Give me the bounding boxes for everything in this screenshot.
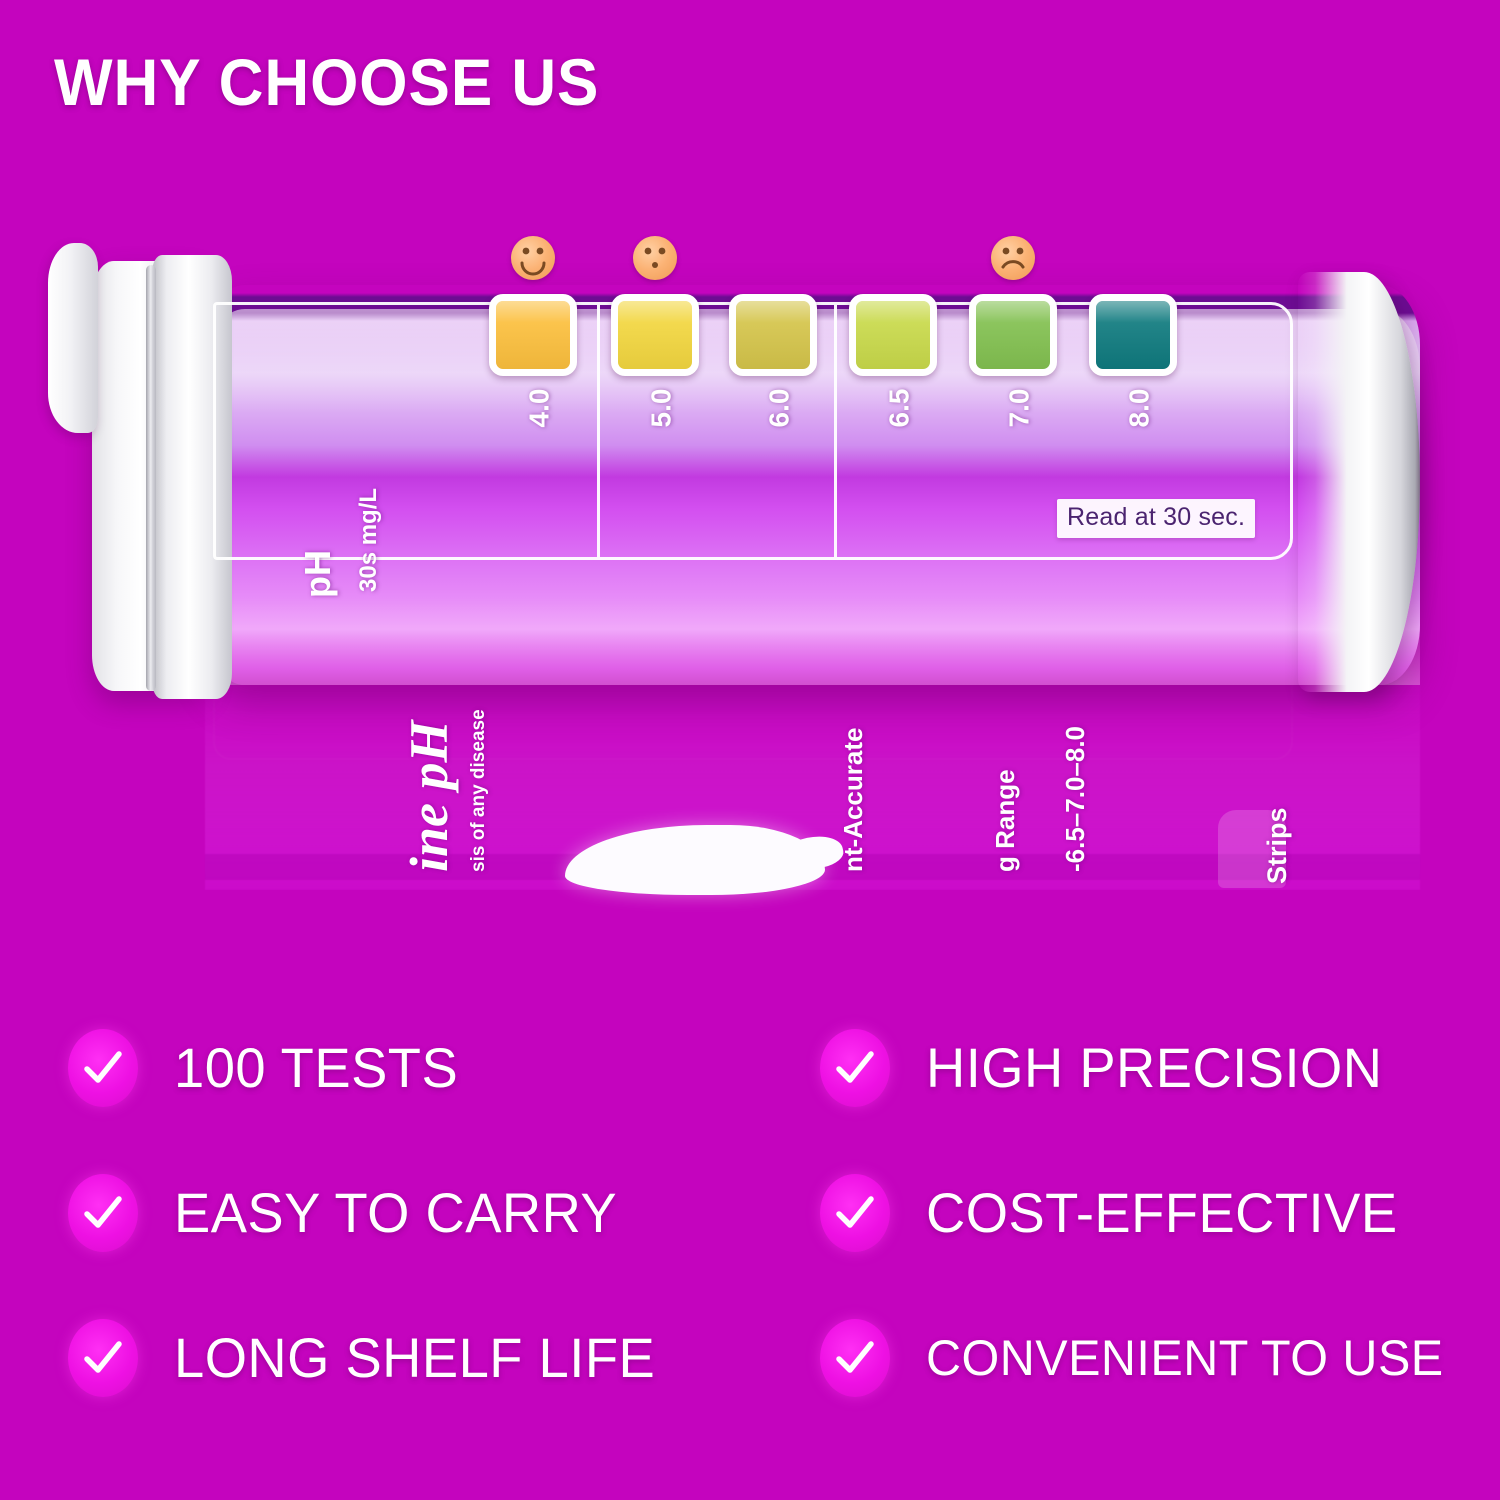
benefits-row: 100 TESTS HIGH PRECISION xyxy=(0,995,1500,1140)
benefit-item: EASY TO CARRY xyxy=(0,1174,760,1252)
color-swatch xyxy=(489,294,577,376)
check-icon xyxy=(820,1029,890,1107)
benefit-item: LONG SHELF LIFE xyxy=(0,1319,760,1397)
benefit-item: CONVENIENT TO USE xyxy=(760,1319,1440,1397)
accuracy-claim: nt-Accurate xyxy=(838,728,869,872)
benefit-item: 100 TESTS xyxy=(0,1029,760,1107)
smile-face-icon xyxy=(511,236,555,280)
swatch-value: 6.0 xyxy=(763,389,795,428)
benefit-item: COST-EFFECTIVE xyxy=(760,1174,1440,1252)
benefits-row: LONG SHELF LIFE CONVENIENT TO USE xyxy=(0,1285,1500,1430)
range-value: -6.5–7.0–8.0 xyxy=(1060,726,1091,872)
color-swatch xyxy=(611,294,699,376)
color-swatch xyxy=(1089,294,1177,376)
bottle-base xyxy=(1298,272,1420,692)
product-image: pH 30s mg/L 4.0 5.0 6.0 6.5 7.0 8.0 xyxy=(0,200,1500,980)
check-icon xyxy=(820,1319,890,1397)
benefit-label: EASY TO CARRY xyxy=(174,1180,617,1245)
benefit-label: COST-EFFECTIVE xyxy=(926,1180,1398,1245)
swatch-value: 8.0 xyxy=(1123,389,1155,428)
color-swatch xyxy=(729,294,817,376)
strips-badge-label: Strips xyxy=(1262,807,1293,884)
benefit-label: LONG SHELF LIFE xyxy=(174,1325,655,1390)
check-icon xyxy=(68,1029,138,1107)
check-icon xyxy=(68,1319,138,1397)
benefit-label: 100 TESTS xyxy=(174,1035,458,1100)
swatch-value: 5.0 xyxy=(645,389,677,428)
label-tagline: sis of any disease xyxy=(468,709,490,872)
swatch-value: 4.0 xyxy=(523,389,555,428)
benefit-label: CONVENIENT TO USE xyxy=(926,1329,1444,1387)
strips-badge: Strips xyxy=(1218,810,1286,888)
swatch-value: 7.0 xyxy=(1003,389,1035,428)
cap-flip-tab xyxy=(48,243,98,433)
analyte-label: pH xyxy=(297,550,339,598)
sad-face-icon xyxy=(991,236,1035,280)
splash-graphic xyxy=(565,825,825,895)
chart-divider xyxy=(834,305,837,557)
color-swatch xyxy=(969,294,1057,376)
swatch-value: 6.5 xyxy=(883,389,915,428)
page-title: WHY CHOOSE US xyxy=(54,44,599,120)
check-icon xyxy=(68,1174,138,1252)
benefits-list: 100 TESTS HIGH PRECISION EASY TO CARRY C… xyxy=(0,995,1500,1430)
range-label: g Range xyxy=(990,769,1021,872)
check-icon xyxy=(820,1174,890,1252)
unit-label: 30s mg/L xyxy=(355,488,383,592)
benefits-row: EASY TO CARRY COST-EFFECTIVE xyxy=(0,1140,1500,1285)
benefit-item: HIGH PRECISION xyxy=(760,1029,1440,1107)
brand-name: ine pH xyxy=(398,720,460,872)
neutral-face-icon xyxy=(633,236,677,280)
chart-divider xyxy=(597,305,600,557)
benefit-label: HIGH PRECISION xyxy=(926,1035,1383,1100)
color-swatch xyxy=(849,294,937,376)
read-time-tag: Read at 30 sec. xyxy=(1057,499,1255,538)
